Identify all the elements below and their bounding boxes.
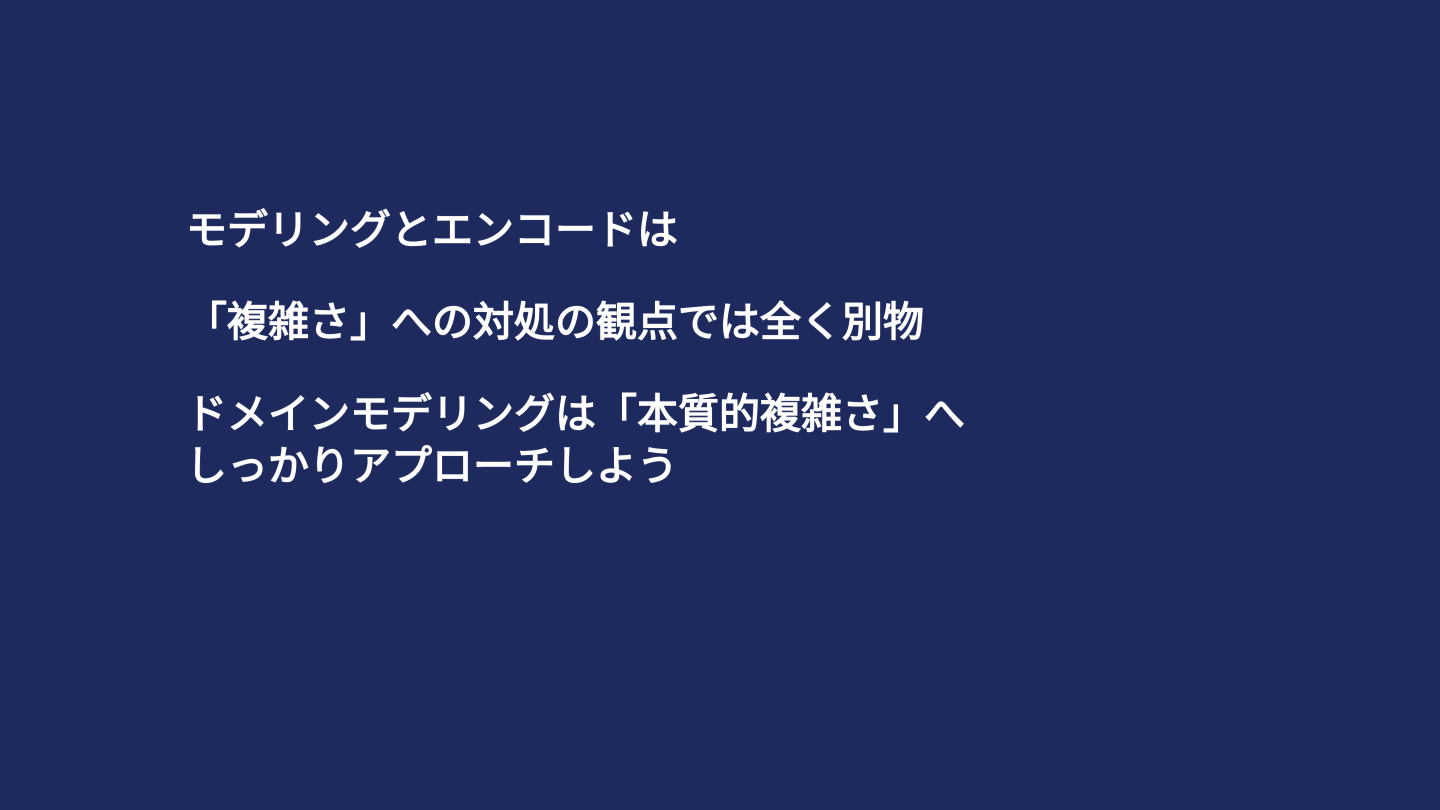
paragraph-1: モデリングとエンコードは: [186, 206, 1306, 254]
decorative-border-top: [0, 0, 1440, 140]
decorative-border-bottom: [0, 672, 1440, 810]
paragraph-3: ドメインモデリングは「本質的複雑さ」へ しっかりアプローチしよう: [186, 390, 1306, 490]
text-line: ドメインモデリングは「本質的複雑さ」へ: [186, 390, 1306, 438]
text-line: しっかりアプローチしよう: [186, 442, 1306, 490]
text-line: モデリングとエンコードは: [186, 206, 1306, 254]
paragraph-2: 「複雑さ」への対処の観点では全く別物: [186, 298, 1306, 346]
slide-canvas: モデリングとエンコードは 「複雑さ」への対処の観点では全く別物 ドメインモデリン…: [0, 0, 1440, 810]
slide-body-text: モデリングとエンコードは 「複雑さ」への対処の観点では全く別物 ドメインモデリン…: [186, 206, 1306, 490]
text-line: 「複雑さ」への対処の観点では全く別物: [186, 298, 1306, 346]
